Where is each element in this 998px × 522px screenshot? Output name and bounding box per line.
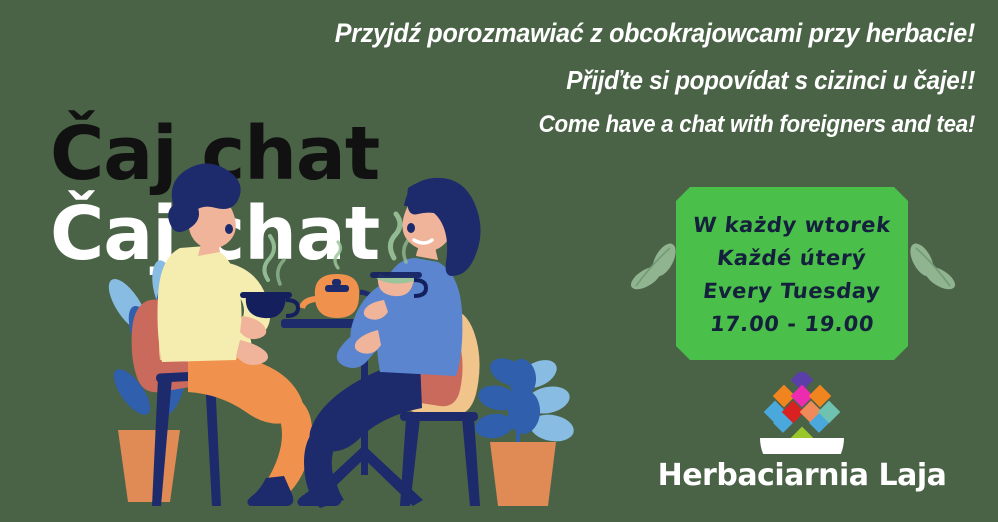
plant-right-icon — [474, 353, 576, 506]
schedule-line-time: 17.00 - 19.00 — [709, 314, 875, 335]
headline-english: Come have a chat with foreigners and tea… — [282, 113, 975, 137]
leaf-decoration-right-icon — [900, 242, 956, 302]
herbaciarnia-laja-logo-icon — [652, 372, 952, 454]
headline-polish: Przyjdź porozmawiać z obcokrajowcami prz… — [282, 20, 975, 47]
headline-czech: Přijďte si popovídat s cizinci u čaje!! — [282, 67, 975, 93]
plant-pot-left — [118, 430, 180, 502]
logo-bowl — [760, 438, 844, 454]
schedule-line-english: Every Tuesday — [702, 281, 882, 302]
poster-canvas: Čaj chat — [0, 0, 998, 522]
plant-pot-right — [490, 442, 556, 506]
schedule-line-czech: Každé úterý — [716, 248, 867, 269]
schedule-info-box: W każdy wtorek Každé úterý Every Tuesday… — [676, 187, 908, 360]
schedule-line-polish: W każdy wtorek — [692, 215, 892, 236]
title-caj-chat-black: Čaj chat — [50, 117, 379, 191]
title-caj-chat-white: Čaj chat — [50, 197, 379, 271]
plant-left-icon — [102, 258, 206, 506]
brand-name: Herbaciarnia Laja — [652, 461, 952, 491]
table — [281, 319, 449, 506]
brand-block: Herbaciarnia Laja — [652, 372, 952, 491]
